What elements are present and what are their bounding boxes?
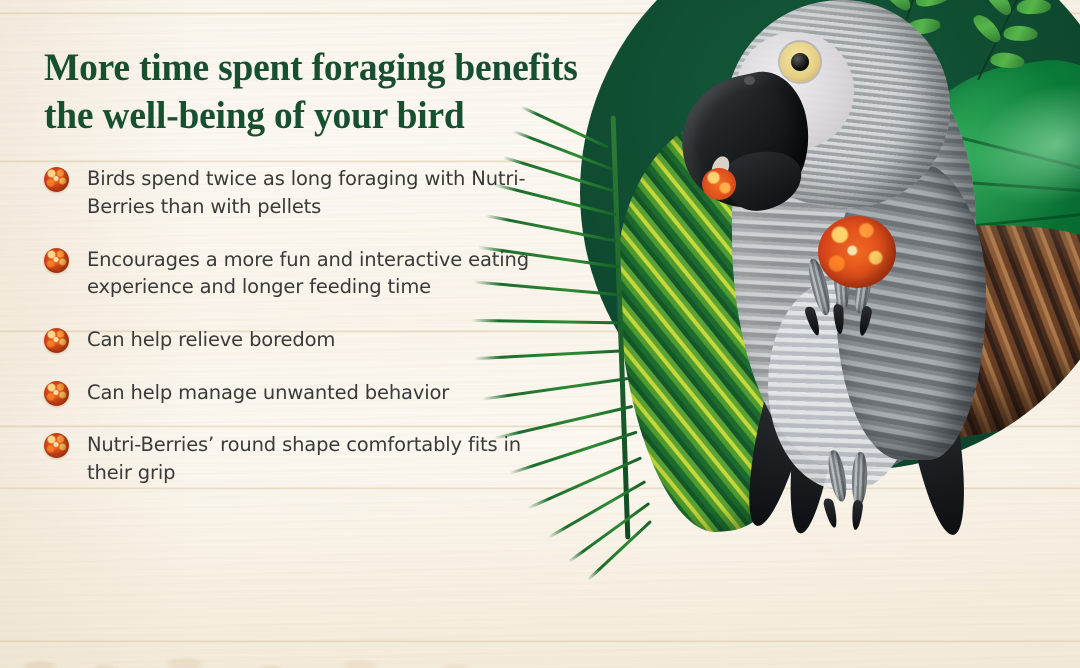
parrot-nostril	[744, 76, 755, 85]
list-item: Birds spend twice as long foraging with …	[44, 165, 654, 220]
parrot-foot-on-branch	[824, 450, 904, 520]
benefits-list: Birds spend twice as long foraging with …	[44, 165, 654, 487]
text-column: More time spent foraging benefits the we…	[44, 44, 654, 487]
list-item: Nutri-Berries’ round shape comfortably f…	[44, 431, 654, 486]
nutri-berry-icon	[44, 433, 69, 458]
foraging-benefits-banner: More time spent foraging benefits the we…	[0, 0, 1080, 668]
list-item: Can help relieve boredom	[44, 326, 654, 354]
benefit-text: Encourages a more fun and interactive ea…	[87, 246, 557, 301]
nutri-berry-icon	[44, 328, 69, 353]
nutri-berry-in-beak	[702, 168, 736, 200]
benefit-text: Nutri-Berries’ round shape comfortably f…	[87, 431, 557, 486]
benefit-text: Birds spend twice as long foraging with …	[87, 165, 557, 220]
headline-line-1: More time spent foraging benefits	[44, 44, 630, 92]
parrot-pupil	[791, 53, 809, 71]
nutri-berry-in-foot	[818, 216, 896, 288]
african-grey-parrot	[640, 0, 1040, 540]
list-item: Encourages a more fun and interactive ea…	[44, 246, 654, 301]
benefit-text: Can help relieve boredom	[87, 326, 335, 354]
headline-line-2: the well-being of your bird	[44, 92, 630, 140]
wood-knot-texture	[0, 643, 520, 668]
nutri-berry-icon	[44, 248, 69, 273]
list-item: Can help manage unwanted behavior	[44, 379, 654, 407]
benefit-text: Can help manage unwanted behavior	[87, 379, 449, 407]
nutri-berry-icon	[44, 167, 69, 192]
page-title: More time spent foraging benefits the we…	[44, 44, 630, 139]
nutri-berry-icon	[44, 381, 69, 406]
